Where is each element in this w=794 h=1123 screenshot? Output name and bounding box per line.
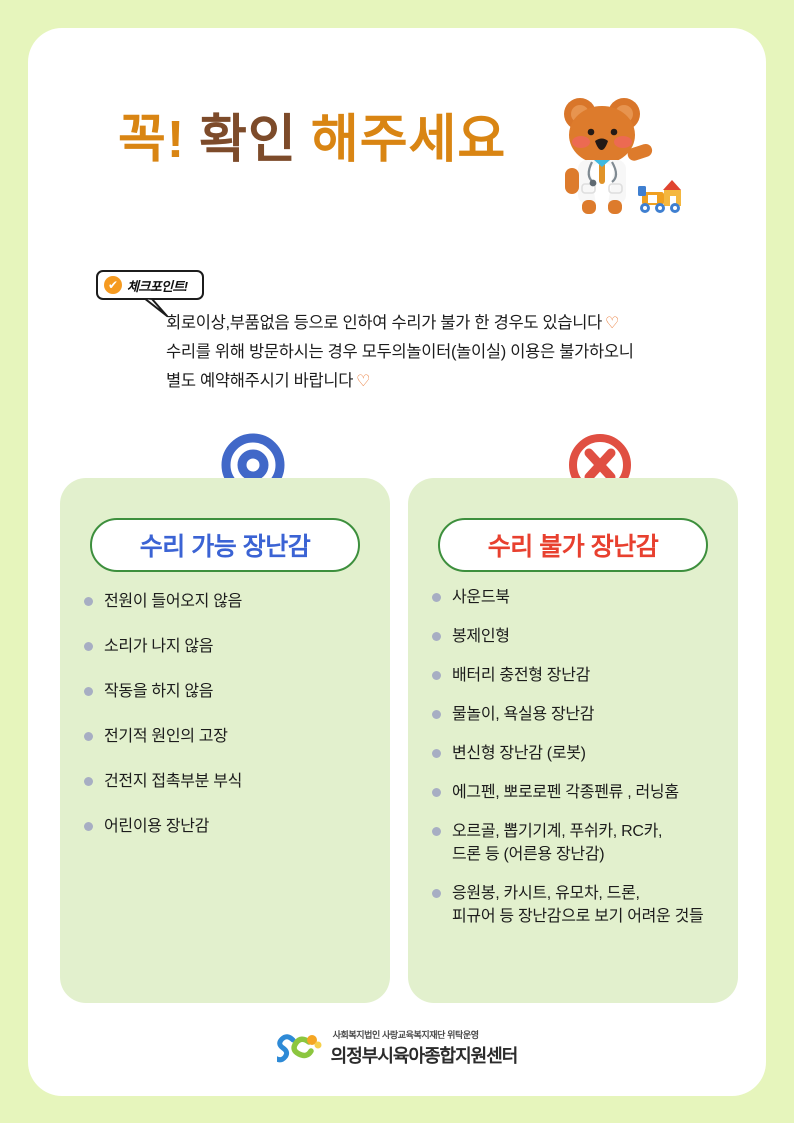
bullet-icon xyxy=(84,822,93,831)
list-item: 작동을 하지 않음 xyxy=(84,680,384,703)
repairable-list: 전원이 들어오지 않음 소리가 나지 않음 작동을 하지 않음 전기적 원인의 … xyxy=(84,590,384,860)
title-row: 꼭!확인해주세요 xyxy=(28,90,766,210)
list-item: 변신형 장난감 (로봇) xyxy=(432,742,732,765)
notice-block: 회로이상,부품없음 등으로 인하여 수리가 불가 한 경우도 있습니다♡ 수리를… xyxy=(166,309,746,396)
title-part-1: 꼭! xyxy=(118,111,185,169)
list-item-label: 에그펜, 뽀로로펜 각종펜류 , 러닝홈 xyxy=(452,781,679,804)
check-circle-icon: ✔ xyxy=(104,276,122,294)
bullet-icon xyxy=(432,889,441,898)
bullet-icon xyxy=(84,597,93,606)
title-part-2: 확인 xyxy=(199,111,297,169)
footer-subtitle: 사회복지법인 사랑교육복지재단 위탁운영 xyxy=(333,1028,518,1041)
list-item-label: 건전지 접촉부분 부식 xyxy=(104,770,242,793)
list-item-label: 전기적 원인의 고장 xyxy=(104,725,228,748)
non-repairable-panel-header: 수리 불가 장난감 xyxy=(438,518,708,572)
bullet-icon xyxy=(432,827,441,836)
notice-line-2: 수리를 위해 방문하시는 경우 모두의놀이터(놀이실) 이용은 불가하오니 xyxy=(166,338,746,367)
bullet-icon xyxy=(432,788,441,797)
bullet-icon xyxy=(84,642,93,651)
repairable-panel-header: 수리 가능 장난감 xyxy=(90,518,360,572)
list-item-label: 봉제인형 xyxy=(452,625,510,648)
list-item-label: 배터리 충전형 장난감 xyxy=(452,664,590,687)
page-title: 꼭!확인해주세요 xyxy=(118,114,506,166)
list-item: 사운드북 xyxy=(432,586,732,609)
checkpoint-label: 체크포인트! xyxy=(127,276,188,295)
notice-line-1-text: 회로이상,부품없음 등으로 인하여 수리가 불가 한 경우도 있습니다 xyxy=(166,314,602,332)
footer: 사회복지법인 사랑교육복지재단 위탁운영 의정부시육아종합지원센터 xyxy=(28,1028,766,1068)
list-item: 물놀이, 욕실용 장난감 xyxy=(432,703,732,726)
list-item-label: 물놀이, 욕실용 장난감 xyxy=(452,703,594,726)
bullet-icon xyxy=(432,710,441,719)
heart-icon: ♡ xyxy=(605,315,619,332)
list-item-label: 사운드북 xyxy=(452,586,510,609)
poster-card: 꼭!확인해주세요 xyxy=(28,28,766,1096)
list-item: 배터리 충전형 장난감 xyxy=(432,664,732,687)
notice-line-1: 회로이상,부품없음 등으로 인하여 수리가 불가 한 경우도 있습니다♡ xyxy=(166,309,746,338)
list-item: 봉제인형 xyxy=(432,625,732,648)
bear-doctor-mascot-icon xyxy=(538,90,688,220)
bullet-icon xyxy=(84,732,93,741)
organization-logo-icon xyxy=(277,1031,325,1065)
list-item: 오르골, 뽑기기계, 푸쉬카, RC카, 드론 등 (어른용 장난감) xyxy=(432,820,732,866)
bullet-icon xyxy=(432,671,441,680)
repairable-panel-title: 수리 가능 장난감 xyxy=(140,527,310,563)
list-item-label: 오르골, 뽑기기계, 푸쉬카, RC카, 드론 등 (어른용 장난감) xyxy=(452,820,662,866)
bullet-icon xyxy=(84,687,93,696)
non-repairable-list: 사운드북 봉제인형 배터리 충전형 장난감 물놀이, 욕실용 장난감 변신형 장… xyxy=(432,586,732,944)
notice-line-2-text: 수리를 위해 방문하시는 경우 모두의놀이터(놀이실) 이용은 불가하오니 xyxy=(166,343,634,361)
list-item: 에그펜, 뽀로로펜 각종펜류 , 러닝홈 xyxy=(432,781,732,804)
checkpoint-badge: ✔ 체크포인트! xyxy=(96,270,204,300)
repairable-panel: 수리 가능 장난감 전원이 들어오지 않음 소리가 나지 않음 작동을 하지 않… xyxy=(60,478,390,1003)
footer-organization-name: 의정부시육아종합지원센터 xyxy=(331,1042,518,1068)
list-item: 전기적 원인의 고장 xyxy=(84,725,384,748)
bullet-icon xyxy=(84,777,93,786)
notice-line-3: 별도 예약해주시기 바랍니다♡ xyxy=(166,367,746,396)
footer-text: 사회복지법인 사랑교육복지재단 위탁운영 의정부시육아종합지원센터 xyxy=(331,1028,518,1068)
list-item-label: 전원이 들어오지 않음 xyxy=(104,590,242,613)
list-item-label: 변신형 장난감 (로봇) xyxy=(452,742,586,765)
list-item-label: 응원봉, 카시트, 유모차, 드론, 피규어 등 장난감으로 보기 어려운 것들 xyxy=(452,882,703,928)
list-item: 응원봉, 카시트, 유모차, 드론, 피규어 등 장난감으로 보기 어려운 것들 xyxy=(432,882,732,928)
list-item-label: 소리가 나지 않음 xyxy=(104,635,213,658)
notice-line-3-text: 별도 예약해주시기 바랍니다 xyxy=(166,372,353,390)
non-repairable-panel-title: 수리 불가 장난감 xyxy=(488,527,658,563)
bullet-icon xyxy=(432,749,441,758)
non-repairable-panel: 수리 불가 장난감 사운드북 봉제인형 배터리 충전형 장난감 물놀이, 욕실용… xyxy=(408,478,738,1003)
bullet-icon xyxy=(432,632,441,641)
list-item: 전원이 들어오지 않음 xyxy=(84,590,384,613)
list-item: 어린이용 장난감 xyxy=(84,815,384,838)
bullet-icon xyxy=(432,593,441,602)
list-item-label: 어린이용 장난감 xyxy=(104,815,209,838)
list-item: 건전지 접촉부분 부식 xyxy=(84,770,384,793)
heart-icon-2: ♡ xyxy=(356,373,370,390)
title-part-3: 해주세요 xyxy=(311,111,506,169)
list-item-label: 작동을 하지 않음 xyxy=(104,680,213,703)
list-item: 소리가 나지 않음 xyxy=(84,635,384,658)
